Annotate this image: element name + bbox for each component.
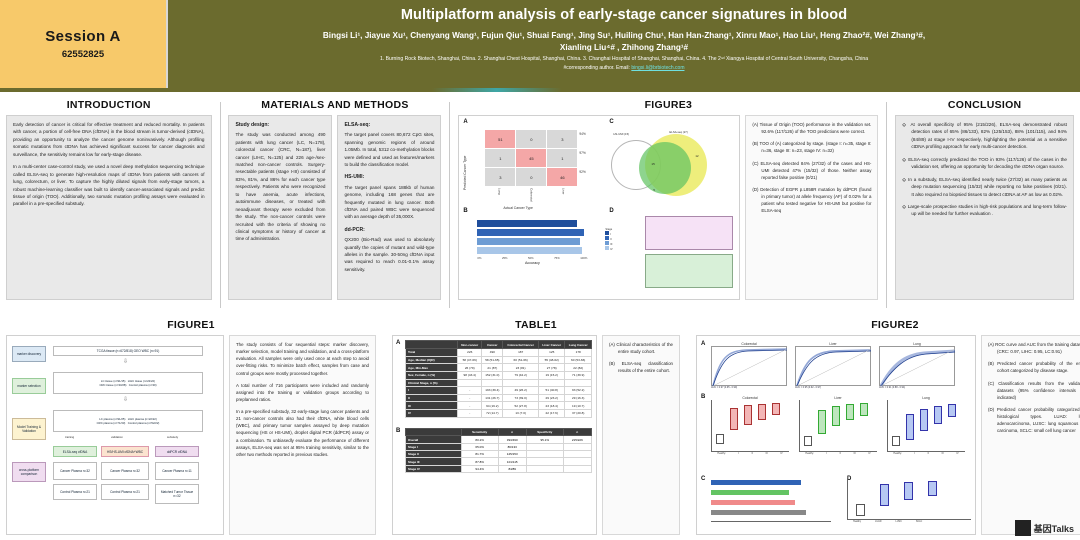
column-conclusion: CONCLUSION ◇ At overall specificity of 9… xyxy=(895,96,1074,314)
box xyxy=(892,436,900,446)
roc-plot-lung: Lung AUC = 0.91 (0.88 - 0.94) xyxy=(879,342,955,389)
table-body: Overall80.2%393/49095.1%215/226 Stage I6… xyxy=(406,436,592,473)
heatmap-cell: 3 xyxy=(547,130,577,148)
figure2-caption-a: (A) ROC curve and AUC from the training … xyxy=(988,341,1080,355)
study-design-panel: Study design: The study was conducted am… xyxy=(228,115,332,300)
figure3-confusion-heatmap: Predicted Cancer Type 51 0 3 1 45 1 3 0 … xyxy=(475,130,593,196)
box xyxy=(804,436,812,446)
section-heading-conclusion: CONCLUSION xyxy=(895,96,1074,115)
table-row: Stage IV94.4%84/89 xyxy=(406,465,592,472)
th: n xyxy=(563,428,591,436)
heatmap-cell: 51 xyxy=(485,130,515,148)
flow-sample-cancer-2: Cancer Plasma n=32 xyxy=(101,462,149,480)
heatmap-cell: 0 xyxy=(516,168,546,186)
page-title: Multiplatform analysis of early-stage ca… xyxy=(178,7,1070,24)
heatmap-x-axis-label: Actual Cancer Type xyxy=(503,206,533,210)
session-box: Session A 62552825 xyxy=(0,0,168,88)
table-header-row: Sensitivity n Specificity n xyxy=(406,428,592,436)
column-table1: TABLE1 A Non-cancer Cancer Colorectal Ca… xyxy=(392,316,680,540)
classification-results-table: Sensitivity n Specificity n Overall80.2%… xyxy=(405,428,592,474)
divider-2 xyxy=(449,102,450,308)
heatmap-row-pct: 94% xyxy=(579,132,585,136)
table-row: Stage I65.0%86/133 xyxy=(406,443,592,450)
bar-row xyxy=(477,220,601,227)
figure3-caption-b: (B) TOO of (A) categorized by stage. (st… xyxy=(752,140,871,154)
bar-row xyxy=(477,229,601,236)
figure3-panel-b-label: B xyxy=(463,208,467,214)
table1-caption-a: (A) Clinical characteristics of the enti… xyxy=(609,341,673,355)
heatmap-row-pct: 92% xyxy=(579,170,585,174)
corresponding-prefix: #corresponding author. Email: xyxy=(564,65,630,71)
flow-node-ctrl-plasma: Control plasma (n=52/22) xyxy=(128,421,160,425)
table1-tables: A Non-cancer Cancer Colorectal Cancer Li… xyxy=(392,335,597,535)
column-figure2: FIGURE2 A B C D Colorectal xyxy=(696,316,1080,540)
flow-col-label-training: training xyxy=(65,435,74,439)
figure3-panel-c-label: C xyxy=(609,119,613,125)
intro-paragraph-2: In a multi-center case-control study, we… xyxy=(13,163,205,208)
histotype-x-ticks: Healthy LUAD LUSC SCLC xyxy=(847,520,971,523)
table-row: Total226490187125178 xyxy=(406,349,592,357)
figure3-panel-d-label: D xyxy=(609,208,613,214)
session-label: Session A xyxy=(45,28,121,45)
figure2-panel-b-label: B xyxy=(701,394,705,400)
elsa-heading: ELSA-seq: xyxy=(344,121,434,129)
table-row: Clinical Stage, n (%) xyxy=(406,379,592,387)
bar-row xyxy=(477,247,601,254)
flow-sample-control-2: Control Plasma n=21 xyxy=(101,484,149,500)
box xyxy=(934,406,942,424)
conclusion-item-text: At overall specificity of 95% (215/226),… xyxy=(910,122,1067,149)
heatmap-y-axis-label: Predicted Cancer Type xyxy=(463,136,467,190)
column-figure3: FIGURE3 A C B D Predicted Cancer Type 51 xyxy=(458,96,878,314)
heatmap-cell: 45 xyxy=(516,149,546,167)
figure3-caption-d: (D) Detection of EGFR p.L858R mutation b… xyxy=(752,186,871,215)
box xyxy=(758,404,766,420)
figure2-graphic: A B C D Colorectal xyxy=(696,335,976,535)
divider-1 xyxy=(220,102,221,308)
conclusion-panel: ◇ At overall specificity of 95% (215/226… xyxy=(895,115,1074,300)
flow-node-ctrl-tissue: Control plasma (n=30) xyxy=(129,383,157,387)
flow-node-tcga: TCGA tissue (n=672/818) GEO WBC (n=91) xyxy=(53,346,203,356)
box xyxy=(716,434,724,444)
boxplot-group-liver: Liver HealthyIIIII xyxy=(799,396,877,455)
table-row: Overall80.2%393/49095.1%215/226 xyxy=(406,436,592,443)
cls-bar xyxy=(711,490,789,495)
box xyxy=(928,481,937,496)
table-body: Total226490187125178 Age, Median (IQR)58… xyxy=(406,349,592,417)
conclusion-item-text: In a substudy, ELSA-seq identified nearl… xyxy=(908,177,1067,197)
figure2-caption-b: (B) Predicted cancer probability of the … xyxy=(988,360,1080,374)
table-row: II-131 (26.7)73 (39.0)29 (23.2)29 (16.3) xyxy=(406,394,592,402)
bottom-row: FIGURE1 marker discovery marker selectio… xyxy=(6,316,1074,540)
figure2-caption-c: (C) Classification results from the vali… xyxy=(988,380,1080,401)
table1-panel-b-label: B xyxy=(396,428,400,434)
assays-panel: ELSA-seq: The target panel covers 80,672… xyxy=(337,115,441,300)
session-id: 62552825 xyxy=(62,49,104,60)
figure2-caption-panel: (A) ROC curve and AUC from the training … xyxy=(981,335,1080,535)
flow-node-crc-plasma: CRC plasma (n=71/33) xyxy=(97,421,126,425)
th: Lung Cancer xyxy=(565,341,592,349)
author-list-2: Xianling Liu⁴# , Zhihong Zhang¹# xyxy=(178,42,1070,54)
table-row: Stage III87.8%101/115 xyxy=(406,458,592,465)
watermark-text: 基因Talks xyxy=(1034,522,1074,535)
poster-root: Session A 62552825 Multiplatform analysi… xyxy=(0,0,1080,540)
intro-paragraph-1: Early detection of cancer is critical fo… xyxy=(13,121,205,158)
conclusion-item: ◇ In a substudy, ELSA-seq identified nea… xyxy=(902,176,1067,198)
section-heading-figure1: FIGURE1 xyxy=(6,316,376,335)
th: Cancer xyxy=(482,341,503,349)
bar-row xyxy=(477,238,601,245)
box xyxy=(948,404,956,417)
figure2-caption-d: (D) Predicted cancer probability categor… xyxy=(988,406,1080,435)
figure3-panel-a-label: A xyxy=(463,119,467,125)
figure3-caption-c: (C) ELSA-seq detected 84% (27/32) of the… xyxy=(752,160,871,181)
roc-curve-svg xyxy=(796,347,872,387)
ddpcr-plot-top xyxy=(645,216,733,250)
poster-header: Session A 62552825 Multiplatform analysi… xyxy=(0,0,1080,88)
section-heading-figure2: FIGURE2 xyxy=(696,316,1080,335)
box xyxy=(818,410,826,434)
box xyxy=(846,404,854,420)
flow-node-tissue: LC tissue (n=91/15) LIHC tissue (n=22/22… xyxy=(53,372,203,394)
heatmap-row-pct: 97% xyxy=(579,151,585,155)
flow-assay-ddpcr: ddPCR cfDNA xyxy=(155,446,199,457)
flow-col-label-substudy: substudy xyxy=(167,435,178,439)
watermark: 基因Talks xyxy=(1015,520,1074,536)
table1-panel-a-label: A xyxy=(396,340,400,346)
author-list: Bingsi Li¹, Jiayue Xu¹, Chenyang Wang¹, … xyxy=(178,30,1070,42)
th: Specificity xyxy=(526,428,563,436)
box xyxy=(772,403,780,415)
cls-bar xyxy=(711,500,795,505)
heatmap-x-ticks: Lung Colorectal Liver xyxy=(483,188,579,202)
roc-curve-svg xyxy=(880,347,956,387)
figure2-roc-row: Colorectal AUC = 0.97 (0.95 - 0.99) xyxy=(711,342,955,389)
flow-node-crc-tissue: CRC tissue (n=33/28) xyxy=(99,383,126,387)
flow-sample-tumor-tissue: Matched Tumor Tissue n=32 xyxy=(155,484,199,504)
column-introduction: INTRODUCTION Early detection of cancer i… xyxy=(6,96,212,314)
table-row: Age, Median (IQR)58 (47-66)58 (51-65)60 … xyxy=(406,356,592,364)
flow-sample-cancer-3: Cancer Plasma n=11 xyxy=(155,462,199,480)
study-design-heading: Study design: xyxy=(235,121,325,129)
venn-value-right: 12 xyxy=(695,154,698,158)
th xyxy=(406,428,462,436)
table-row: III-94 (19.2)52 (27.8)23 (18.4)19 (10.7) xyxy=(406,402,592,410)
flow-arrow-down-icon-2: ⇩ xyxy=(123,396,128,403)
flow-step-marker-discovery: marker discovery xyxy=(12,346,46,362)
qr-code-icon xyxy=(1015,520,1031,536)
box xyxy=(880,484,889,506)
histotype-tick: LUSC xyxy=(896,520,902,523)
table1-caption-b: (B) ELSA-seq classification results of t… xyxy=(609,360,673,374)
introduction-panel: Early detection of cancer is critical fo… xyxy=(6,115,212,300)
conclusion-item: ◇ At overall specificity of 95% (215/226… xyxy=(902,121,1067,151)
bar-x-ticks: 0%25%50%75%100% xyxy=(477,256,587,260)
box xyxy=(744,405,752,425)
th: Liver Cancer xyxy=(539,341,565,349)
bar-legend: Stage I II III IV xyxy=(605,228,612,251)
venn-label-left: HS-UMI (15) xyxy=(613,132,629,136)
elsa-text: The target panel covers 80,672 CpG sites… xyxy=(344,132,434,167)
boxplot-group-lung: Lung HealthyIIIIII xyxy=(887,396,965,455)
figure1-caption-p1: The study consists of four sequential st… xyxy=(236,341,369,377)
flow-node-plasma: LC plasma (n=91/25) LIHC plasma (n=22/22… xyxy=(53,410,203,432)
box xyxy=(920,409,928,431)
section-heading-introduction: INTRODUCTION xyxy=(6,96,212,115)
histotype-tick: LUAD xyxy=(875,520,881,523)
column-methods: MATERIALS AND METHODS Study design: The … xyxy=(228,96,441,314)
box xyxy=(904,482,913,500)
flow-assay-hsumi: HS/HS-UMI cfDNA+WBC xyxy=(101,446,149,457)
heatmap-cell: 0 xyxy=(516,130,546,148)
figure3-stage-bars: 0%25%50%75%100% Accuracy xyxy=(477,220,601,282)
hsumi-heading: HS-UMI: xyxy=(344,173,434,181)
figure2-panel-c-label: C xyxy=(701,476,705,482)
clinical-characteristics-table: Non-cancer Cancer Colorectal Cancer Live… xyxy=(405,340,592,418)
boxplot-group-colorectal: Colorectal Healthy xyxy=(711,396,789,455)
elsa-block: ELSA-seq: The target panel covers 80,672… xyxy=(344,121,434,168)
venn-label-right: ELSA-seq (27) xyxy=(669,130,687,134)
heatmap-cell: 46 xyxy=(547,168,577,186)
box xyxy=(730,408,738,430)
box xyxy=(856,504,865,516)
table1-panel-b-wrap: B Sensitivity n Specificity n xyxy=(405,428,592,474)
table-header-row: Non-cancer Cancer Colorectal Cancer Live… xyxy=(406,341,592,349)
flow-col-label-validation: validation xyxy=(111,435,123,439)
hsumi-text: The target panel spans 188kb of human ge… xyxy=(344,185,434,220)
corresponding-author: #corresponding author. Email: bingsi.li@… xyxy=(178,65,1070,71)
figure1-flowchart: marker discovery marker selection Model … xyxy=(6,335,224,535)
box xyxy=(906,414,914,440)
flow-sample-cancer-1: Cancer Plasma n=32 xyxy=(53,462,97,480)
table-row: Sex, Female, n (%)98 (43.4)152 (31.0)79 … xyxy=(406,371,592,379)
venn-value-bottom: 5 xyxy=(653,188,655,192)
table-row: Age, Min-Max26 (79)21 (87)23 (81)27 (78)… xyxy=(406,364,592,372)
flow-assay-elsa: ELSA-seq cfDNA xyxy=(53,446,97,457)
ddpcr-plot-bottom xyxy=(645,254,733,288)
figure2-panel-a-label: A xyxy=(701,341,705,347)
box xyxy=(860,403,868,416)
conclusion-item: ◇ ELSA-seq correctly predicted the TOO i… xyxy=(902,156,1067,171)
bar-x-axis-label: Accuracy xyxy=(477,261,587,265)
roc-curve-svg xyxy=(712,347,788,387)
column-figure1: FIGURE1 marker discovery marker selectio… xyxy=(6,316,376,540)
conclusion-item-text: Large-scale prospective studies in high-… xyxy=(908,204,1067,216)
section-heading-figure3: FIGURE3 xyxy=(458,96,878,115)
figure2-classification-chart xyxy=(711,478,831,528)
flow-sample-control-1: Control Plasma n=21 xyxy=(53,484,97,500)
ddpcr-block: dd-PCR: QX200 (Bio-Rad) was used to abso… xyxy=(344,226,434,273)
top-row: INTRODUCTION Early detection of cancer i… xyxy=(6,96,1074,314)
title-block: Multiplatform analysis of early-stage ca… xyxy=(168,0,1080,88)
divider-3 xyxy=(886,102,887,308)
histotype-tick: SCLC xyxy=(916,520,922,523)
flow-arrow-down-icon: ⇩ xyxy=(123,358,128,365)
figure1-caption-p2: A total number of 716 participants were … xyxy=(236,382,369,403)
figure2-histotype-chart: Healthy LUAD LUSC SCLC xyxy=(847,478,971,528)
figure1-caption-panel: The study consists of four sequential st… xyxy=(229,335,376,535)
figure2-boxplots: Colorectal Healthy xyxy=(711,396,967,470)
figure3-caption-panel: (A) Tissue of Origin (TOO) performance i… xyxy=(745,115,878,300)
figure3-venn-diagram: HS-UMI (15) ELSA-seq (27) 15 12 5 xyxy=(609,130,735,200)
th: Non-cancer xyxy=(458,341,482,349)
roc-plot-colorectal: Colorectal AUC = 0.97 (0.95 - 0.99) xyxy=(711,342,787,389)
figure3-caption-a: (A) Tissue of Origin (TOO) performance i… xyxy=(752,121,871,135)
figure1-caption-p3: In a pre-specified substudy, 32 early-st… xyxy=(236,408,369,458)
corresponding-email[interactable]: bingsi.li@brbiotech.com xyxy=(631,65,684,71)
flow-step-marker-selection: marker selection xyxy=(12,378,46,394)
histotype-tick: Healthy xyxy=(853,520,861,523)
table1-caption-panel: (A) Clinical characteristics of the enti… xyxy=(602,335,680,535)
flow-step-model-training: Model Training & Validation xyxy=(12,418,46,440)
heatmap-cell: 1 xyxy=(485,149,515,167)
flow-step-cross-platform: cross-platform comparison xyxy=(12,462,46,482)
roc-plot-liver: Liver AUC = 0.95 (0.92 - 0.97) xyxy=(795,342,871,389)
table-row: IV-72 (14.7)13 (7.0)22 (17.6)37 (20.8) xyxy=(406,409,592,417)
th: Sensitivity xyxy=(461,428,498,436)
heatmap-cell: 1 xyxy=(547,149,577,167)
table-row: Stage II81.7%125/153 xyxy=(406,451,592,458)
hsumi-block: HS-UMI: The target panel spans 188kb of … xyxy=(344,173,434,220)
box xyxy=(832,406,840,426)
section-heading-materials: MATERIALS AND METHODS xyxy=(228,96,441,115)
venn-value-overlap: 15 xyxy=(651,162,654,166)
heatmap-cell: 3 xyxy=(485,168,515,186)
ddpcr-text: QX200 (Bio-Rad) was used to absolutely q… xyxy=(344,237,434,272)
affiliations: 1. Burning Rock Biotech, Shanghai, China… xyxy=(178,56,1070,63)
cls-bar xyxy=(711,480,801,485)
section-heading-table1: TABLE1 xyxy=(392,316,680,335)
conclusion-item-text: ELSA-seq correctly predicted the TOO in … xyxy=(908,157,1067,169)
boxplot-x-ticks: HealthyIIIIIIIV xyxy=(711,452,789,455)
boxplot-x-ticks: HealthyIIIIIIIV xyxy=(799,452,877,455)
study-design-text: The study was conducted among 490 patien… xyxy=(235,132,325,241)
table-row: I-193 (39.4)49 (26.2)51 (40.8)93 (52.2) xyxy=(406,387,592,395)
cls-bar xyxy=(711,510,806,515)
boxplot-x-ticks: HealthyIIIIIIIV xyxy=(887,452,965,455)
figure3-graphic: A C B D Predicted Cancer Type 51 0 3 1 xyxy=(458,115,740,300)
poster-body: INTRODUCTION Early detection of cancer i… xyxy=(0,92,1080,540)
ddpcr-heading: dd-PCR: xyxy=(344,226,434,234)
th: n xyxy=(498,428,526,436)
conclusion-item: ◇ Large-scale prospective studies in hig… xyxy=(902,203,1067,218)
th xyxy=(406,341,458,349)
th: Colorectal Cancer xyxy=(503,341,539,349)
